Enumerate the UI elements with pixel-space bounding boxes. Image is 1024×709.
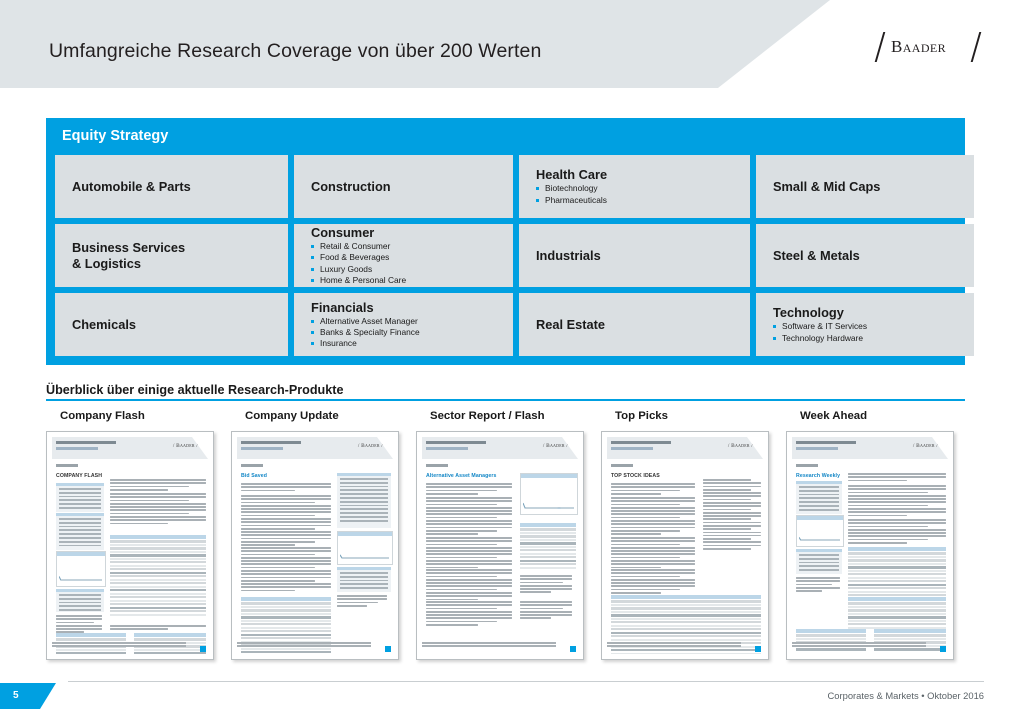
doc-text-block [426, 483, 512, 496]
sector-subitem: Insurance [311, 338, 513, 349]
doc-contents-list [703, 479, 761, 551]
doc-masthead: Baader [52, 437, 208, 459]
doc-headline: Alternative Asset Managers [426, 473, 496, 479]
sector-cell[interactable]: Steel & Metals [756, 224, 974, 287]
section-divider [46, 399, 965, 401]
sector-subitem: Biotechnology [536, 183, 750, 194]
doc-masthead: Baader [422, 437, 578, 459]
research-product: Top PicksBaaderTOP STOCK IDEAS [601, 410, 779, 660]
baader-logo: Baader [872, 32, 984, 62]
sector-cell-title: Construction [311, 179, 513, 194]
doc-footer [237, 642, 393, 650]
doc-headline: Research Weekly [796, 473, 840, 479]
research-product-label: Top Picks [615, 410, 779, 422]
doc-table [110, 535, 206, 617]
doc-table [520, 523, 576, 570]
doc-text-block [241, 483, 331, 493]
doc-masthead: Baader [607, 437, 763, 459]
sector-cell-title: Financials [311, 300, 513, 315]
research-product-thumbnail[interactable]: BaaderAlternative Asset Managers [416, 431, 584, 660]
doc-text-block [110, 493, 206, 526]
research-product-label: Sector Report / Flash [430, 410, 594, 422]
research-product-thumbnail[interactable]: BaaderBid Saved [231, 431, 399, 660]
research-product-label: Company Update [245, 410, 409, 422]
sector-subitem: Luxury Goods [311, 264, 513, 275]
doc-logo: Baader [543, 443, 568, 449]
doc-logo: Baader [913, 443, 938, 449]
doc-logo: Baader [358, 443, 383, 449]
sector-subitem: Home & Personal Care [311, 275, 513, 286]
doc-info-panel [796, 481, 842, 514]
doc-brand-mark-icon [385, 646, 391, 652]
doc-info-panel [337, 473, 391, 528]
doc-footer [792, 642, 948, 650]
sector-subitem: Software & IT Services [773, 321, 974, 332]
document-preview: BaaderTOP STOCK IDEAS [607, 437, 763, 654]
doc-chart [56, 551, 106, 587]
research-product-label: Week Ahead [800, 410, 964, 422]
sector-cell[interactable]: Industrials [519, 224, 750, 287]
sector-cell-title: Technology [773, 305, 974, 320]
sector-subitem: Pharmaceuticals [536, 195, 750, 206]
page-title: Umfangreiche Research Coverage von über … [49, 40, 541, 63]
doc-date [56, 464, 78, 467]
sector-subitem-list: Alternative Asset ManagerBanks & Special… [311, 316, 513, 349]
doc-chart [337, 531, 393, 565]
sector-subitem: Food & Beverages [311, 252, 513, 263]
research-products-row: Company FlashBaaderCOMPANY FLASHCompany … [46, 410, 986, 660]
logo-wordmark: Baader [891, 37, 946, 57]
sector-cell[interactable]: Business Services& Logistics [55, 224, 288, 287]
doc-text-block [337, 595, 387, 608]
sector-cell[interactable]: Automobile & Parts [55, 155, 288, 218]
equity-strategy-title: Equity Strategy [62, 128, 168, 144]
research-products-heading-text: Überblick über einige aktuelle Research-… [46, 383, 343, 397]
sector-subitem: Banks & Specialty Finance [311, 327, 513, 338]
doc-text-block [520, 601, 572, 621]
doc-headline: TOP STOCK IDEAS [611, 473, 660, 479]
sector-cell[interactable]: Health CareBiotechnologyPharmaceuticals [519, 155, 750, 218]
sector-cell-title: Health Care [536, 167, 750, 182]
doc-text-block [848, 485, 946, 518]
document-preview: BaaderResearch Weekly [792, 437, 948, 654]
doc-logo: Baader [173, 443, 198, 449]
sector-cell[interactable]: FinancialsAlternative Asset ManagerBanks… [294, 293, 513, 356]
sector-subitem-list: Retail & ConsumerFood & BeveragesLuxury … [311, 241, 513, 285]
sector-subitem: Alternative Asset Manager [311, 316, 513, 327]
research-product: Company UpdateBaaderBid Saved [231, 410, 409, 660]
sector-cell[interactable]: Small & Mid Caps [756, 155, 974, 218]
doc-chart [796, 515, 844, 547]
research-product-thumbnail[interactable]: BaaderResearch Weekly [786, 431, 954, 660]
sector-cell[interactable]: Chemicals [55, 293, 288, 356]
doc-text-block [56, 615, 102, 635]
research-products-heading: Überblick über einige aktuelle Research-… [46, 381, 965, 399]
doc-text-block [848, 519, 946, 545]
doc-text-block [426, 537, 512, 570]
doc-info-panel [796, 549, 842, 574]
page-header: Umfangreiche Research Coverage von über … [0, 0, 1024, 88]
research-product: Company FlashBaaderCOMPANY FLASH [46, 410, 224, 660]
doc-masthead: Baader [792, 437, 948, 459]
sector-cell-title: Industrials [536, 248, 750, 263]
doc-footer [52, 642, 208, 650]
logo-slash-left-icon [875, 32, 886, 62]
document-preview: BaaderBid Saved [237, 437, 393, 654]
doc-footer [422, 642, 578, 650]
sector-cell[interactable]: TechnologySoftware & IT ServicesTechnolo… [756, 293, 974, 356]
doc-headline: Bid Saved [241, 473, 267, 479]
doc-masthead: Baader [237, 437, 393, 459]
doc-text-block [848, 473, 946, 483]
research-product: Week AheadBaaderResearch Weekly [786, 410, 964, 660]
sector-cell-title: Business Services& Logistics [72, 240, 288, 270]
doc-text-block [426, 601, 512, 627]
sector-subitem-list: Software & IT ServicesTechnology Hardwar… [773, 321, 974, 343]
equity-strategy-panel: Equity Strategy Automobile & PartsConstr… [46, 118, 965, 365]
page-number: 5 [13, 690, 19, 701]
doc-text-block [611, 569, 695, 595]
sector-cell-title: Real Estate [536, 317, 750, 332]
footer-text: Corporates & Markets • Oktober 2016 [828, 690, 984, 701]
doc-footer [607, 642, 763, 650]
doc-headline: COMPANY FLASH [56, 473, 102, 479]
document-preview: BaaderAlternative Asset Managers [422, 437, 578, 654]
doc-text-block [426, 569, 512, 602]
sector-cell-title: Consumer [311, 225, 513, 240]
doc-table [848, 597, 946, 630]
doc-text-block [110, 625, 206, 632]
doc-text-block [796, 577, 840, 593]
doc-brand-mark-icon [570, 646, 576, 652]
sector-subitem-list: BiotechnologyPharmaceuticals [536, 183, 750, 205]
doc-date [611, 464, 633, 467]
sector-cell[interactable]: ConsumerRetail & ConsumerFood & Beverage… [294, 224, 513, 287]
doc-date [796, 464, 818, 467]
sector-cell[interactable]: Real Estate [519, 293, 750, 356]
sector-grid: Automobile & PartsConstructionHealth Car… [55, 155, 956, 356]
doc-text-block [426, 497, 512, 536]
doc-text-block [520, 575, 572, 595]
doc-date [426, 464, 448, 467]
sector-cell-title: Steel & Metals [773, 248, 974, 263]
doc-chart [520, 473, 578, 515]
sector-cell-title: Chemicals [72, 317, 288, 332]
doc-text-block [110, 479, 206, 492]
research-product-thumbnail[interactable]: BaaderCOMPANY FLASH [46, 431, 214, 660]
doc-brand-mark-icon [755, 646, 761, 652]
sector-cell-title: Small & Mid Caps [773, 179, 974, 194]
doc-text-block [611, 483, 695, 496]
doc-text-block [241, 495, 331, 548]
doc-info-panel [56, 513, 104, 550]
doc-brand-mark-icon [200, 646, 206, 652]
doc-date [241, 464, 263, 467]
document-preview: BaaderCOMPANY FLASH [52, 437, 208, 654]
page-number-badge [0, 683, 56, 709]
doc-info-panel [56, 483, 104, 512]
sector-cell[interactable]: Construction [294, 155, 513, 218]
doc-text-block [241, 547, 331, 593]
doc-text-block [611, 537, 695, 570]
doc-text-block [611, 497, 695, 536]
doc-info-panel [337, 567, 391, 592]
research-product-label: Company Flash [60, 410, 224, 422]
doc-logo: Baader [728, 443, 753, 449]
sector-subitem: Retail & Consumer [311, 241, 513, 252]
footer-divider [68, 681, 984, 682]
doc-brand-mark-icon [940, 646, 946, 652]
sector-cell-title: Automobile & Parts [72, 179, 288, 194]
doc-table [848, 547, 946, 601]
research-product: Sector Report / FlashBaaderAlternative A… [416, 410, 594, 660]
logo-slash-right-icon [971, 32, 982, 62]
sector-subitem: Technology Hardware [773, 333, 974, 344]
research-product-thumbnail[interactable]: BaaderTOP STOCK IDEAS [601, 431, 769, 660]
doc-info-panel [56, 589, 104, 612]
